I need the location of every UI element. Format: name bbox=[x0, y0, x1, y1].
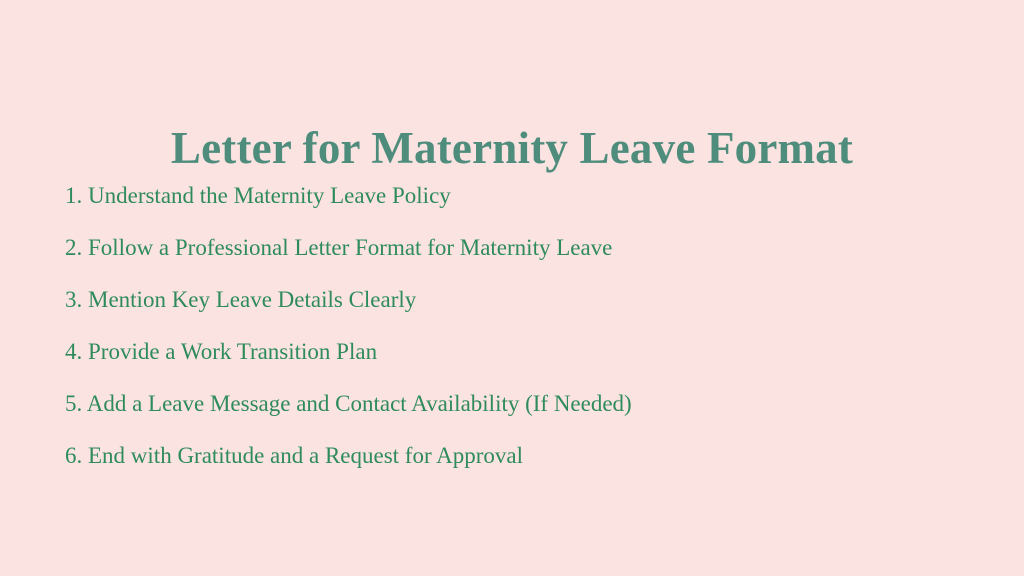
list-item: 5. Add a Leave Message and Contact Avail… bbox=[65, 390, 974, 418]
list-item-label: Understand the Maternity Leave Policy bbox=[88, 183, 451, 208]
list-item-label: Mention Key Leave Details Clearly bbox=[88, 287, 416, 312]
list-item-number: 1. bbox=[65, 183, 82, 208]
list-item-number: 3. bbox=[65, 287, 82, 312]
list-item: 1. Understand the Maternity Leave Policy bbox=[65, 182, 974, 210]
list-item-label: Provide a Work Transition Plan bbox=[88, 339, 377, 364]
list-item-number: 6. bbox=[65, 443, 82, 468]
list-item-number: 4. bbox=[65, 339, 82, 364]
list-item-number: 5. bbox=[65, 391, 82, 416]
list-item: 4. Provide a Work Transition Plan bbox=[65, 338, 974, 366]
list-item-number: 2. bbox=[65, 235, 82, 260]
list-item: 6. End with Gratitude and a Request for … bbox=[65, 442, 974, 470]
list-item-label: Add a Leave Message and Contact Availabi… bbox=[87, 391, 632, 416]
list-item: 2. Follow a Professional Letter Format f… bbox=[65, 234, 974, 262]
list-item-label: End with Gratitude and a Request for App… bbox=[88, 443, 523, 468]
page-title: Letter for Maternity Leave Format bbox=[0, 122, 1024, 174]
list-item-label: Follow a Professional Letter Format for … bbox=[88, 235, 612, 260]
steps-list: 1. Understand the Maternity Leave Policy… bbox=[65, 182, 974, 470]
slide-canvas: Letter for Maternity Leave Format 1. Und… bbox=[0, 0, 1024, 576]
list-item: 3. Mention Key Leave Details Clearly bbox=[65, 286, 974, 314]
